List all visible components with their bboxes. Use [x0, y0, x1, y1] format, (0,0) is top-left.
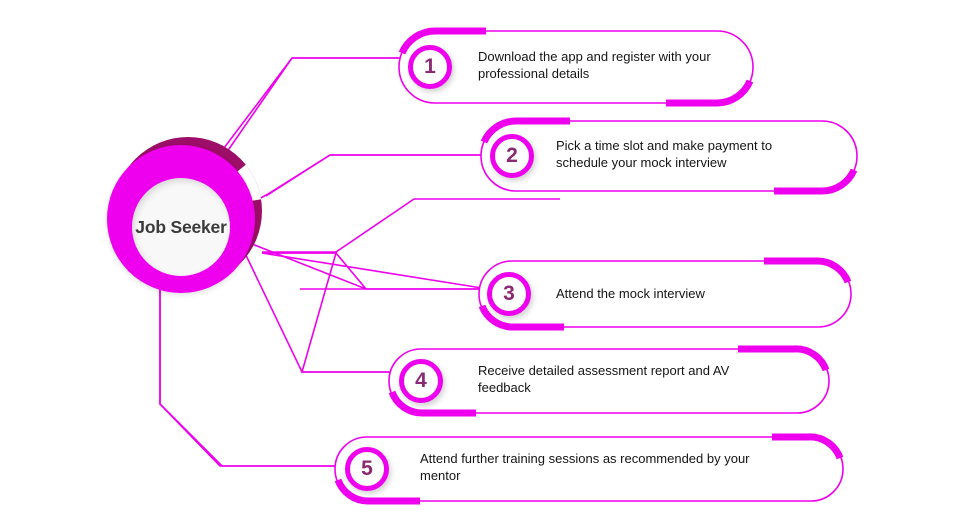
step-2-number-circle: 2: [490, 134, 534, 178]
step-2-number: 2: [506, 145, 518, 166]
step-2-text: Pick a time slot and make payment to sch…: [556, 137, 816, 171]
step-3-number-circle: 3: [487, 272, 531, 316]
hub-bright-ring: Job Seeker: [107, 145, 255, 293]
line-step-3: [252, 244, 490, 289]
line-step-2: [266, 155, 482, 196]
hub-inner-circle: Job Seeker: [132, 178, 230, 276]
step-4-number: 4: [415, 370, 427, 391]
step-4-text: Receive detailed assessment report and A…: [478, 362, 768, 396]
hub-job-seeker: Job Seeker: [107, 137, 263, 293]
line-step-3-top: [262, 199, 560, 252]
diagram-canvas: Job Seeker 1 Download the app and regist…: [0, 0, 965, 528]
step-1-text: Download the app and register with your …: [478, 48, 713, 82]
step-5-text: Attend further training sessions as reco…: [420, 450, 785, 484]
step-3-number: 3: [503, 283, 515, 304]
step-3-text: Attend the mock interview: [556, 285, 826, 302]
line-step-4: [243, 249, 392, 372]
step-1-number: 1: [424, 56, 436, 77]
step-4-number-circle: 4: [399, 359, 443, 403]
step-1-number-circle: 1: [408, 45, 452, 89]
step-5-number-circle: 5: [345, 447, 389, 491]
hub-label: Job Seeker: [135, 217, 226, 238]
step-5-number: 5: [361, 458, 373, 479]
